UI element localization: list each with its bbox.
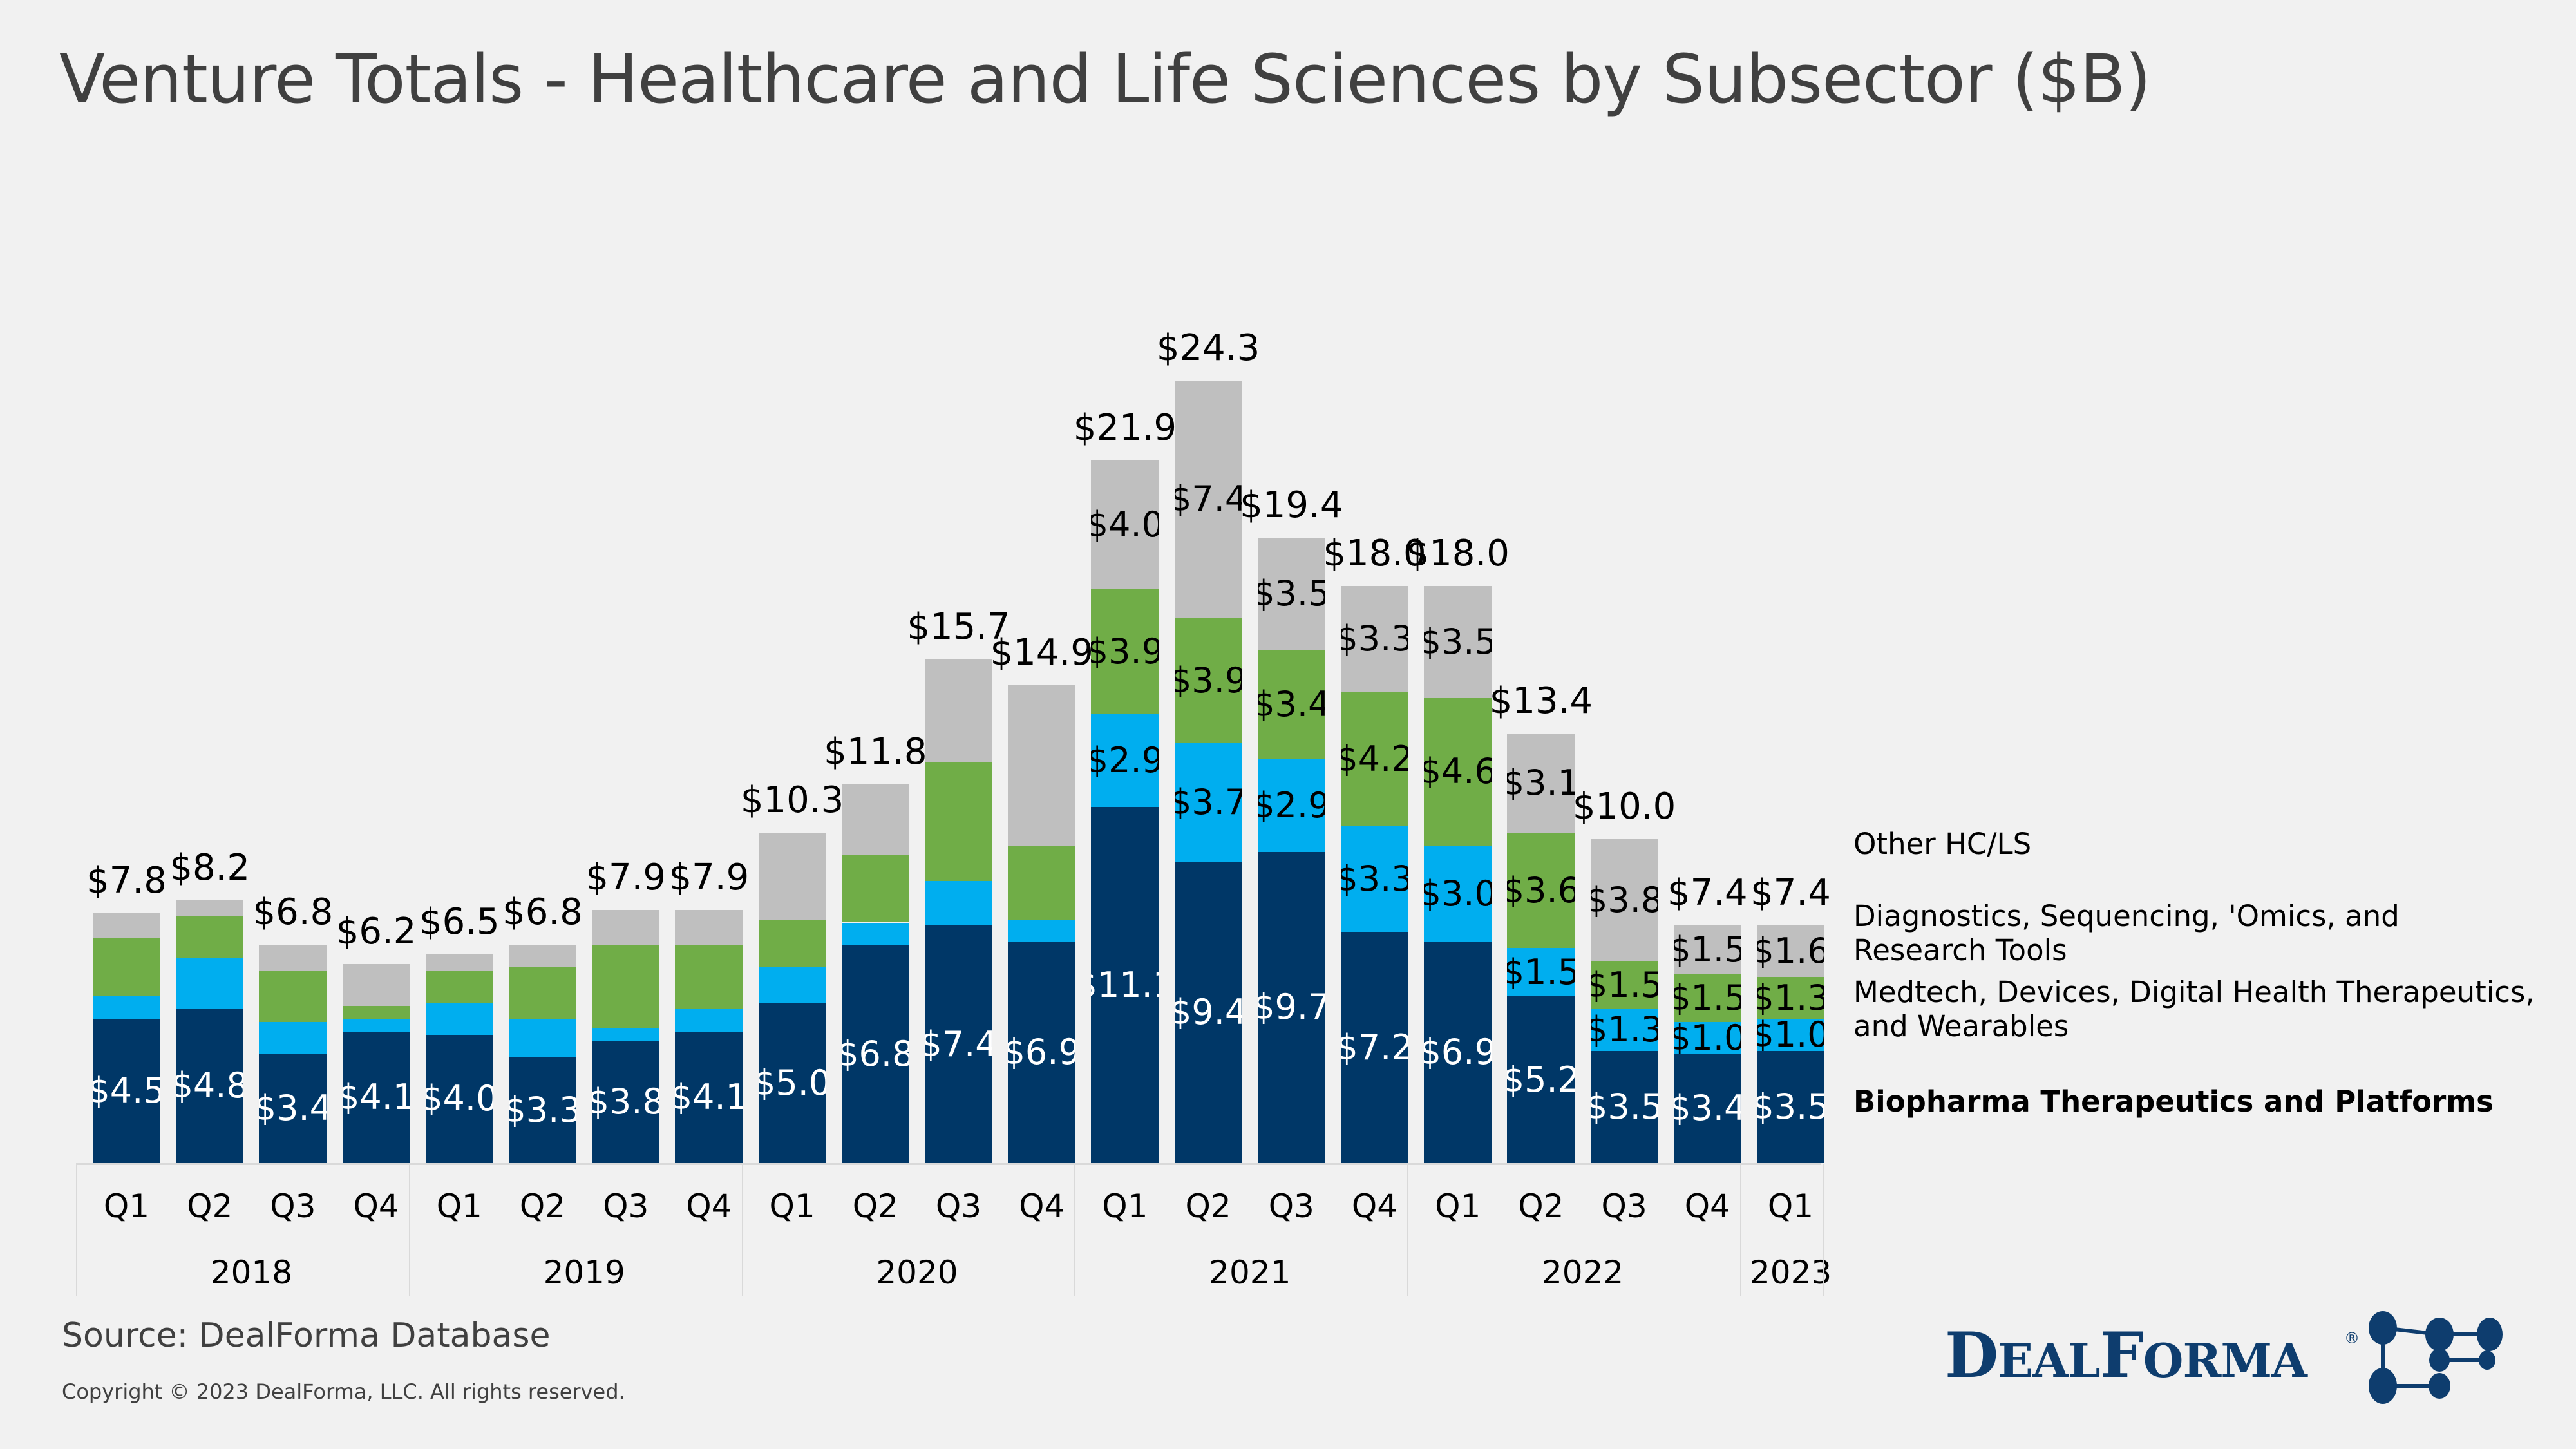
segment-value-label: $3.3	[1341, 862, 1408, 896]
segment-value-label: $7.2	[1341, 1030, 1408, 1065]
bar-segment	[509, 967, 576, 1019]
bar-column: $3.5$1.3$1.5$3.8	[1591, 0, 1658, 1163]
bar-segment	[259, 971, 327, 1022]
x-axis-quarter-label: Q1	[1091, 1190, 1159, 1222]
segment-value-label: $4.0	[1091, 507, 1159, 542]
bar-segment: $7.4	[925, 925, 992, 1163]
bar-segment: $9.4	[1175, 862, 1242, 1163]
bar-segment	[1008, 846, 1075, 920]
bar-segment: $4.5	[93, 1019, 160, 1163]
bar-total-label: $24.3	[1153, 330, 1263, 366]
bar-segment: $3.9	[1175, 618, 1242, 743]
bar-segment: $3.6	[1507, 833, 1575, 948]
bar-segment: $3.4	[1674, 1054, 1741, 1163]
segment-value-label: $3.8	[592, 1084, 659, 1119]
bar-segment: $4.6	[1424, 698, 1492, 846]
segment-value-label: $9.4	[1175, 995, 1242, 1030]
legend: Other HC/LSDiagnostics, Sequencing, 'Omi…	[1853, 828, 2536, 1162]
segment-value-label: $7.4	[925, 1027, 992, 1062]
bar-column: $9.4$3.7$3.9$7.4	[1175, 0, 1242, 1163]
bar-segment	[592, 910, 659, 945]
bar-segment	[426, 1003, 493, 1035]
bar-column: $5.0	[759, 0, 826, 1163]
segment-value-label: $1.3	[1591, 1012, 1658, 1047]
x-axis-quarter-label: Q2	[1175, 1190, 1242, 1222]
segment-value-label: $4.8	[176, 1068, 243, 1103]
segment-value-label: $3.5	[1424, 625, 1492, 659]
segment-value-label: $3.7	[1175, 785, 1242, 820]
bar-column: $3.5$1.0$1.3$1.6	[1757, 0, 1824, 1163]
dealforma-logo: DEALFORMA ®	[1945, 1314, 2512, 1404]
x-axis-quarter-label: Q3	[1258, 1190, 1325, 1222]
bar-total-label: $13.4	[1486, 683, 1596, 719]
logo-registered-mark: ®	[2344, 1329, 2360, 1347]
bar-segment: $1.5	[1507, 948, 1575, 996]
x-axis-year-label: 2020	[737, 1256, 1097, 1289]
bar-column: $4.5	[93, 0, 160, 1163]
bar-segment	[509, 1019, 576, 1057]
segment-value-label: $1.3	[1757, 981, 1824, 1016]
bar-total-label: $10.3	[737, 782, 847, 819]
bar-total-label: $8.2	[155, 850, 265, 886]
bar-column: $4.1	[343, 0, 410, 1163]
bar-segment: $3.7	[1175, 743, 1242, 862]
bar-column: $11.1$2.9$3.9$4.0	[1091, 0, 1159, 1163]
bar-segment	[759, 833, 826, 919]
bar-segment: $3.0	[1424, 846, 1492, 942]
segment-value-label: $4.1	[343, 1080, 410, 1115]
segment-value-label: $3.4	[1674, 1091, 1741, 1126]
segment-value-label: $3.0	[1424, 876, 1492, 911]
bar-segment: $6.9	[1424, 942, 1492, 1163]
bar-segment	[592, 1028, 659, 1041]
x-axis-quarter-label: Q4	[675, 1190, 743, 1222]
bar-segment: $1.3	[1591, 1009, 1658, 1051]
bar-segment: $3.3	[1341, 586, 1408, 692]
bar-segment	[509, 945, 576, 967]
bar-segment: $4.1	[343, 1032, 410, 1163]
bar-total-label: $10.0	[1569, 789, 1679, 825]
segment-value-label: $9.7	[1258, 990, 1325, 1025]
segment-value-label: $3.5	[1591, 1090, 1658, 1124]
bar-segment	[1008, 920, 1075, 942]
x-axis-quarter-label: Q1	[93, 1190, 160, 1222]
bar-segment	[675, 945, 743, 1009]
bar-segment	[343, 964, 410, 1006]
segment-value-label: $6.8	[842, 1037, 909, 1072]
source-note: Source: DealForma Database	[62, 1319, 551, 1352]
legend-item[interactable]: Medtech, Devices, Digital Health Therape…	[1853, 976, 2536, 1043]
bar-segment	[343, 1019, 410, 1032]
x-axis-year-label: 2018	[71, 1256, 431, 1289]
bar-total-label: $21.9	[1070, 410, 1180, 446]
bar-segment: $11.1	[1091, 807, 1159, 1163]
bar-segment: $3.8	[592, 1041, 659, 1163]
bar-segment: $3.5	[1591, 1051, 1658, 1163]
x-axis-quarter-label: Q2	[842, 1190, 909, 1222]
bar-total-label: $14.9	[987, 635, 1097, 671]
segment-value-label: $3.9	[1091, 634, 1159, 669]
x-axis-quarter-label: Q2	[1507, 1190, 1575, 1222]
bar-segment: $3.5	[1258, 538, 1325, 650]
segment-value-label: $2.9	[1258, 788, 1325, 823]
bar-column: $3.4	[259, 0, 327, 1163]
bar-segment	[176, 916, 243, 958]
year-separator	[1074, 1164, 1075, 1296]
bar-column: $6.9	[1008, 0, 1075, 1163]
x-axis-quarter-label: Q4	[1341, 1190, 1408, 1222]
segment-value-label: $3.3	[1341, 621, 1408, 656]
bar-segment: $9.7	[1258, 852, 1325, 1163]
segment-value-label: $1.0	[1674, 1022, 1741, 1054]
bar-segment	[842, 855, 909, 923]
bar-segment	[675, 1009, 743, 1032]
bar-segment	[259, 1022, 327, 1054]
bar-segment: $5.0	[759, 1003, 826, 1163]
bar-segment: $1.3	[1757, 977, 1824, 1019]
network-nodes-icon	[2363, 1310, 2512, 1406]
bar-segment: $3.4	[1258, 650, 1325, 759]
legend-item[interactable]: Other HC/LS	[1853, 828, 2536, 862]
bar-column: $5.2$1.5$3.6$3.1	[1507, 0, 1575, 1163]
segment-value-label: $5.0	[759, 1066, 826, 1101]
chart-root: Venture Totals - Healthcare and Life Sci…	[0, 0, 2576, 1449]
bar-segment	[925, 659, 992, 762]
segment-value-label: $3.1	[1507, 766, 1575, 800]
bar-segment: $3.5	[1424, 586, 1492, 698]
segment-value-label: $11.1	[1091, 968, 1159, 1003]
logo-wordmark: DEALFORMA	[1945, 1319, 2307, 1392]
bar-total-label: $6.8	[488, 895, 598, 931]
segment-value-label: $1.5	[1591, 968, 1658, 1003]
bar-segment: $2.9	[1258, 759, 1325, 852]
segment-value-label: $3.5	[1258, 576, 1325, 611]
bar-segment: $1.0	[1757, 1019, 1824, 1051]
x-axis-quarter-label: Q1	[1757, 1190, 1824, 1222]
segment-value-label: $4.5	[93, 1074, 160, 1108]
bar-segment: $3.1	[1507, 734, 1575, 833]
bar-segment: $4.2	[1341, 692, 1408, 826]
bar-total-label: $18.0	[1403, 536, 1513, 572]
segment-value-label: $1.0	[1757, 1019, 1824, 1051]
segment-value-label: $1.5	[1674, 981, 1741, 1016]
bar-segment: $1.0	[1674, 1022, 1741, 1054]
plot-area: $4.5$7.8Q1$4.8$8.2Q2$3.4$6.8Q3$4.1$6.2Q4…	[0, 0, 2576, 1449]
x-axis-quarter-label: Q3	[925, 1190, 992, 1222]
segment-value-label: $1.6	[1757, 934, 1824, 969]
bar-segment: $6.9	[1008, 942, 1075, 1163]
bar-segment	[176, 900, 243, 916]
segment-value-label: $3.4	[1258, 687, 1325, 722]
segment-value-label: $4.2	[1341, 742, 1408, 777]
segment-value-label: $1.5	[1674, 933, 1741, 967]
bar-column: $3.8	[592, 0, 659, 1163]
bar-column: $3.3	[509, 0, 576, 1163]
segment-value-label: $7.4	[1175, 482, 1242, 516]
bar-segment: $1.5	[1591, 961, 1658, 1009]
year-separator	[76, 1164, 77, 1296]
bar-segment: $4.0	[426, 1035, 493, 1163]
year-separator	[1407, 1164, 1408, 1296]
year-separator	[1823, 1164, 1824, 1296]
x-axis-quarter-label: Q1	[1424, 1190, 1492, 1222]
bar-segment	[925, 881, 992, 926]
segment-value-label: $1.5	[1507, 955, 1575, 990]
x-axis-quarter-label: Q3	[259, 1190, 327, 1222]
segment-value-label: $6.9	[1424, 1035, 1492, 1070]
x-axis-quarter-label: Q1	[759, 1190, 826, 1222]
bar-segment	[176, 958, 243, 1009]
segment-value-label: $3.4	[259, 1091, 327, 1126]
segment-value-label: $2.9	[1091, 743, 1159, 778]
x-axis-quarter-label: Q4	[1008, 1190, 1075, 1222]
bar-column: $7.2$3.3$4.2$3.3	[1341, 0, 1408, 1163]
bar-column: $6.9$3.0$4.6$3.5	[1424, 0, 1492, 1163]
bar-segment: $3.8	[1591, 839, 1658, 961]
segment-value-label: $5.2	[1507, 1063, 1575, 1097]
bar-segment	[925, 762, 992, 881]
bar-segment	[842, 923, 909, 945]
x-axis-year-label: 2021	[1070, 1256, 1430, 1289]
segment-value-label: $3.6	[1507, 873, 1575, 908]
bar-segment	[259, 945, 327, 971]
bar-column: $6.8	[842, 0, 909, 1163]
bar-segment	[426, 971, 493, 1003]
bar-segment	[759, 967, 826, 1003]
legend-item[interactable]: Diagnostics, Sequencing, 'Omics, and Res…	[1853, 900, 2536, 967]
bar-segment: $4.0	[1091, 460, 1159, 589]
bar-segment: $3.3	[509, 1057, 576, 1163]
bar-column: $7.4	[925, 0, 992, 1163]
x-axis-quarter-label: Q4	[1674, 1190, 1741, 1222]
x-axis-quarter-label: Q2	[509, 1190, 576, 1222]
bar-segment	[93, 996, 160, 1019]
copyright-note: Copyright © 2023 DealForma, LLC. All rig…	[62, 1381, 625, 1402]
bar-segment: $7.4	[1175, 381, 1242, 618]
segment-value-label: $4.6	[1424, 754, 1492, 789]
segment-value-label: $3.8	[1591, 883, 1658, 918]
bar-total-label: $19.4	[1236, 488, 1346, 524]
bar-segment	[759, 920, 826, 968]
bar-segment	[426, 954, 493, 971]
bar-segment: $4.1	[675, 1032, 743, 1163]
bar-column: $4.0	[426, 0, 493, 1163]
x-axis-quarter-label: Q3	[592, 1190, 659, 1222]
segment-value-label: $3.5	[1757, 1090, 1824, 1124]
x-axis-quarter-label: Q4	[343, 1190, 410, 1222]
bar-total-label: $7.4	[1736, 875, 1846, 911]
bar-total-label: $11.8	[820, 734, 930, 770]
bar-segment: $1.6	[1757, 925, 1824, 977]
bar-column: $4.8	[176, 0, 243, 1163]
bar-segment: $3.4	[259, 1054, 327, 1163]
segment-value-label: $4.1	[675, 1080, 743, 1115]
year-separator	[409, 1164, 410, 1296]
x-axis-line	[76, 1163, 1821, 1165]
x-axis-quarter-label: Q2	[176, 1190, 243, 1222]
bar-segment	[343, 1006, 410, 1019]
bar-segment: $6.8	[842, 945, 909, 1163]
segment-value-label: $4.0	[426, 1081, 493, 1116]
x-axis-year-label: 2023	[1611, 1256, 1971, 1289]
segment-value-label: $3.3	[509, 1093, 576, 1128]
bar-segment: $5.2	[1507, 996, 1575, 1163]
bar-segment	[93, 938, 160, 996]
legend-item[interactable]: Biopharma Therapeutics and Platforms	[1853, 1085, 2536, 1119]
bar-segment: $3.5	[1757, 1051, 1824, 1163]
x-axis-quarter-label: Q3	[1591, 1190, 1658, 1222]
bar-segment: $1.5	[1674, 925, 1741, 974]
year-separator	[1740, 1164, 1741, 1296]
bar-segment	[1008, 685, 1075, 846]
bar-segment: $1.5	[1674, 974, 1741, 1022]
bar-segment: $3.3	[1341, 826, 1408, 932]
x-axis-year-label: 2019	[404, 1256, 764, 1289]
bar-column: $4.1	[675, 0, 743, 1163]
bar-column: $9.7$2.9$3.4$3.5	[1258, 0, 1325, 1163]
bar-segment: $3.9	[1091, 589, 1159, 714]
bar-segment: $4.8	[176, 1009, 243, 1163]
bar-segment	[592, 945, 659, 1028]
bar-segment	[93, 913, 160, 939]
x-axis-quarter-label: Q1	[426, 1190, 493, 1222]
bar-segment	[675, 910, 743, 945]
year-separator	[742, 1164, 743, 1296]
bar-segment: $7.2	[1341, 932, 1408, 1163]
bar-segment: $2.9	[1091, 714, 1159, 807]
segment-value-label: $6.9	[1008, 1035, 1075, 1070]
bar-total-label: $7.9	[654, 860, 764, 896]
bar-column: $3.4$1.0$1.5$1.5	[1674, 0, 1741, 1163]
segment-value-label: $3.9	[1175, 663, 1242, 698]
bar-segment	[842, 784, 909, 855]
